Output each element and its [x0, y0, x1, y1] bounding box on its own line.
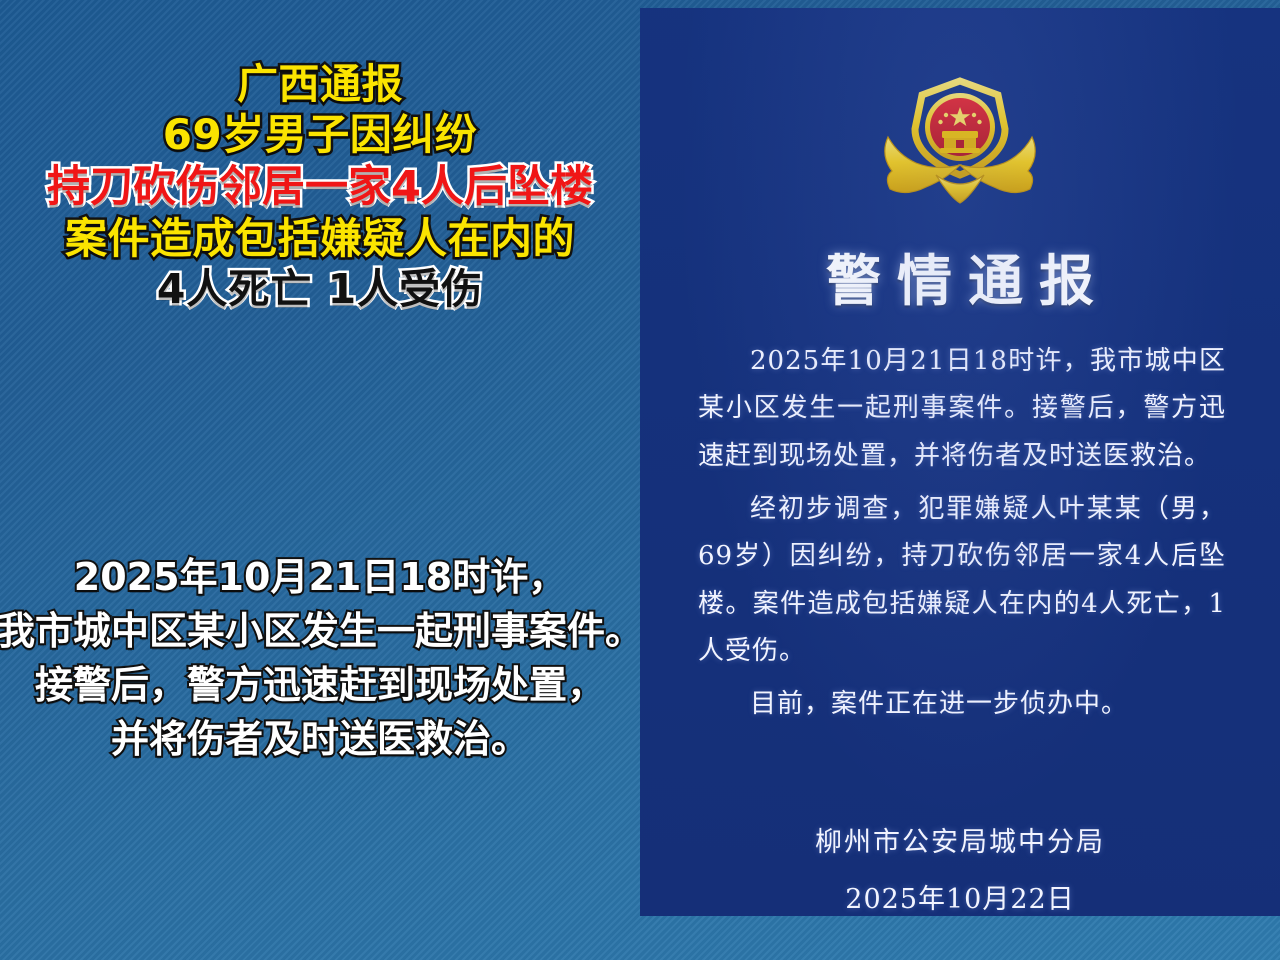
poster-canvas: 广西通报 69岁男子因纠纷 持刀砍伤邻居一家4人后坠楼 案件造成包括嫌疑人在内的… [0, 0, 1280, 960]
notice-paragraph-3: 目前，案件正在进一步侦办中。 [698, 681, 1226, 728]
left-body-line-2: 我市城中区某小区发生一起刑事案件。 [0, 606, 646, 656]
left-text-column: 广西通报 69岁男子因纠纷 持刀砍伤邻居一家4人后坠楼 案件造成包括嫌疑人在内的… [0, 0, 640, 960]
police-notice-panel: 警情通报 2025年10月21日18时许，我市城中区某小区发生一起刑事案件。接警… [640, 8, 1280, 916]
emblem-container [640, 70, 1280, 210]
notice-paragraph-1: 2025年10月21日18时许，我市城中区某小区发生一起刑事案件。接警后，警方迅… [698, 338, 1226, 480]
notice-title: 警情通报 [640, 236, 1280, 316]
headline-line-2: 69岁男子因纠纷 [0, 112, 640, 157]
notice-signature: 柳州市公安局城中分局 2025年10月22日 [640, 820, 1280, 916]
headline-line-5: 4人死亡 1人受伤 [0, 267, 640, 311]
notice-paragraph-2: 经初步调查，犯罪嫌疑人叶某某（男，69岁）因纠纷，持刀砍伤邻居一家4人后坠楼。案… [698, 486, 1226, 675]
left-body-line-3: 接警后，警方迅速赶到现场处置， [0, 660, 646, 710]
china-police-badge-icon [870, 71, 1050, 209]
headline-line-3: 持刀砍伤邻居一家4人后坠楼 [0, 164, 640, 210]
issue-date: 2025年10月22日 [640, 877, 1280, 916]
left-body-block: 2025年10月21日18时许， 我市城中区某小区发生一起刑事案件。 接警后，警… [0, 552, 646, 769]
left-body-line-1: 2025年10月21日18时许， [0, 552, 646, 602]
issuing-authority: 柳州市公安局城中分局 [640, 820, 1280, 859]
left-body-line-4: 并将伤者及时送医救治。 [0, 714, 646, 764]
headline-block: 广西通报 69岁男子因纠纷 持刀砍伤邻居一家4人后坠楼 案件造成包括嫌疑人在内的… [0, 62, 640, 318]
notice-body: 2025年10月21日18时许，我市城中区某小区发生一起刑事案件。接警后，警方迅… [698, 338, 1226, 735]
headline-line-1: 广西通报 [0, 62, 640, 106]
headline-line-4: 案件造成包括嫌疑人在内的 [0, 216, 640, 261]
